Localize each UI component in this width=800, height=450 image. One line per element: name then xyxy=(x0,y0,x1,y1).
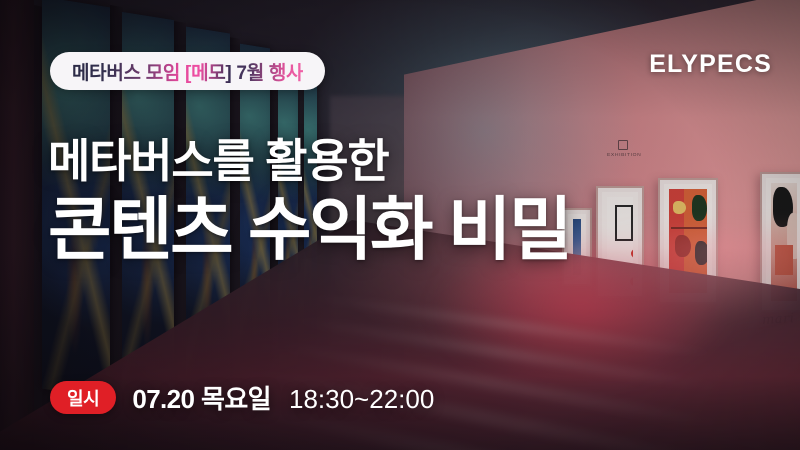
banner-content: ELYPECS 메타버스 모임 [메모] 7월 행사 메타버스를 활용한 콘텐츠… xyxy=(0,0,800,450)
schedule-time: 18:30~22:00 xyxy=(289,384,434,415)
event-banner: EXHIBITION xyxy=(0,0,800,450)
headline-line-1: 메타버스를 활용한 xyxy=(48,136,570,188)
event-category-badge: 메타버스 모임 [메모] 7월 행사 xyxy=(50,52,325,90)
headline-line-2: 콘텐츠 수익화 비밀 xyxy=(48,192,570,268)
headline: 메타버스를 활용한 콘텐츠 수익화 비밀 xyxy=(48,136,570,267)
schedule-value: 07.20 목요일 18:30~22:00 xyxy=(132,379,434,416)
schedule-date: 07.20 목요일 xyxy=(132,379,271,416)
schedule-label-text: 일시 xyxy=(67,385,99,411)
event-category-badge-label: 메타버스 모임 [메모] 7월 행사 xyxy=(72,58,303,85)
schedule-bar: 일시 07.20 목요일 18:30~22:00 xyxy=(50,379,434,416)
schedule-label-pill: 일시 xyxy=(50,381,116,414)
brand-logo: ELYPECS xyxy=(649,50,772,79)
